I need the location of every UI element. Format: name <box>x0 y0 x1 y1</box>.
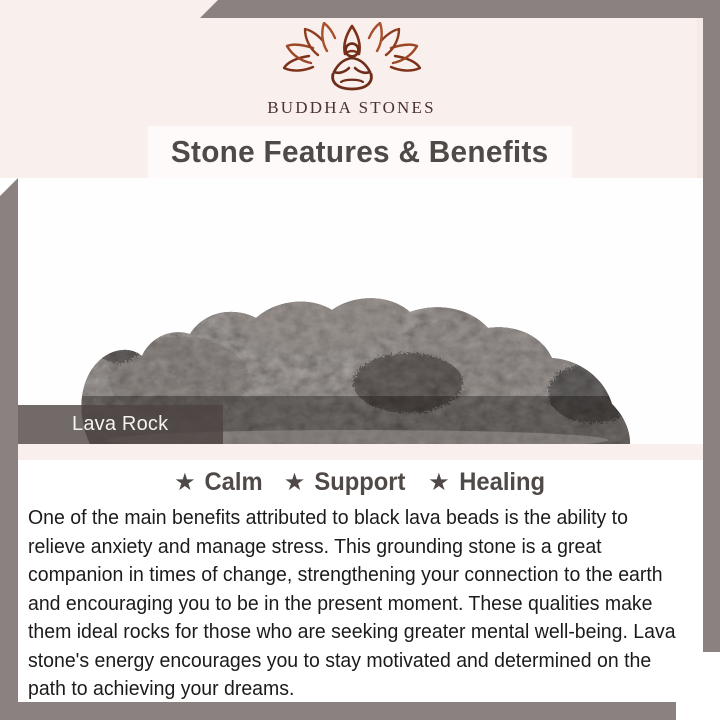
header-panel: BUDDHA STONES Stone Features & Benefits <box>0 0 703 178</box>
photo-caption-label: Lava Rock <box>18 413 168 436</box>
star-icon: ★ <box>284 471 306 495</box>
keyword-item-calm: ★ Calm <box>174 468 264 497</box>
keyword-label-calm: Calm <box>204 468 262 497</box>
keyword-list: ★ Calm ★ Support ★ Healing <box>18 468 703 497</box>
benefits-paragraph: One of the main benefits attributed to b… <box>28 504 676 704</box>
keyword-label-healing: Healing <box>459 468 545 497</box>
keyword-label-support: Support <box>315 468 406 497</box>
keyword-item-healing: ★ Healing <box>428 468 547 497</box>
frame-accent-right <box>703 0 720 652</box>
photo-caption-banner: Lava Rock <box>18 405 223 444</box>
keyword-item-support: ★ Support <box>284 468 408 497</box>
lotus-meditation-figure-icon <box>277 22 427 94</box>
frame-accent-left <box>0 178 18 702</box>
title-plate: Stone Features & Benefits <box>148 126 572 178</box>
page-title: Stone Features & Benefits <box>171 134 549 170</box>
benefits-section: ★ Calm ★ Support ★ Healing One of the ma… <box>18 444 703 702</box>
frame-accent-top <box>200 0 720 18</box>
stone-features-poster: BUDDHA STONES Stone Features & Benefits <box>0 0 720 720</box>
star-icon: ★ <box>174 471 196 495</box>
lava-rock-photo: Lava Rock <box>18 178 703 444</box>
brand-name: BUDDHA STONES <box>267 98 436 118</box>
star-icon: ★ <box>428 471 450 495</box>
brand-logo: BUDDHA STONES <box>0 22 703 118</box>
section-divider-strip <box>18 444 703 460</box>
frame-accent-bottom <box>0 702 676 720</box>
